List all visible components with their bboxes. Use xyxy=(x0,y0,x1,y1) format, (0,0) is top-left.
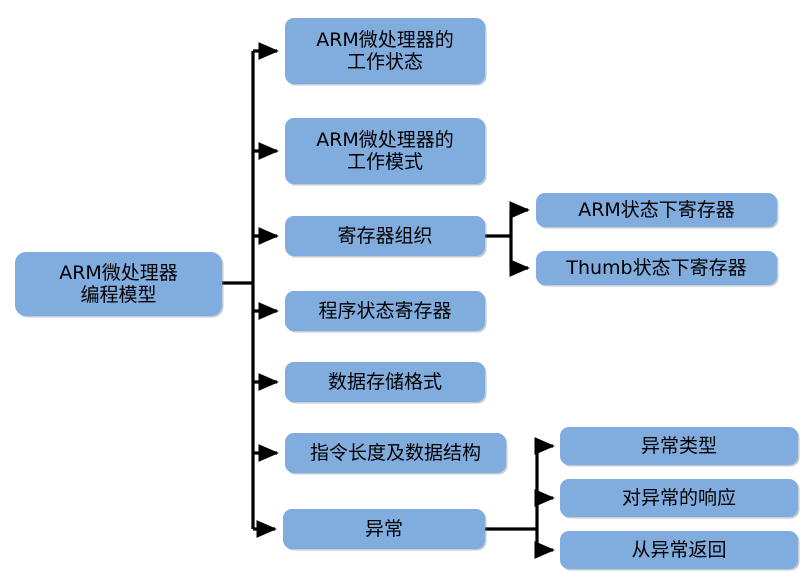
node-thumb-state-register-label: Thumb状态下寄存器 xyxy=(536,257,777,279)
node-arm-working-mode[interactable]: ARM微处理器的 工作模式 xyxy=(285,118,485,184)
node-exception[interactable]: 异常 xyxy=(283,509,485,549)
node-exception-type-label: 异常类型 xyxy=(560,435,798,457)
node-arm-state-register[interactable]: ARM状态下寄存器 xyxy=(536,193,777,227)
node-arm-state-register-label: ARM状态下寄存器 xyxy=(536,199,777,221)
node-program-status-register-label: 程序状态寄存器 xyxy=(285,300,485,322)
node-program-status-register[interactable]: 程序状态寄存器 xyxy=(285,291,485,331)
node-data-storage-format-label: 数据存储格式 xyxy=(285,371,485,393)
node-exception-label: 异常 xyxy=(283,518,485,540)
node-data-storage-format[interactable]: 数据存储格式 xyxy=(285,362,485,402)
node-exception-response[interactable]: 对异常的响应 xyxy=(560,479,798,517)
node-exception-return-label: 从异常返回 xyxy=(560,539,798,561)
node-thumb-state-register[interactable]: Thumb状态下寄存器 xyxy=(536,251,777,285)
diagram-canvas: ARM微处理器 编程模型 ARM微处理器的 工作状态 ARM微处理器的 工作模式… xyxy=(0,0,812,573)
node-exception-return[interactable]: 从异常返回 xyxy=(560,531,798,569)
node-exception-response-label: 对异常的响应 xyxy=(560,487,798,509)
node-instruction-length-and-data-structure[interactable]: 指令长度及数据结构 xyxy=(285,433,506,473)
node-arm-working-state-label: ARM微处理器的 工作状态 xyxy=(285,29,485,74)
node-register-organization-label: 寄存器组织 xyxy=(285,225,485,247)
node-instruction-length-and-data-structure-label: 指令长度及数据结构 xyxy=(285,442,506,464)
node-arm-working-mode-label: ARM微处理器的 工作模式 xyxy=(285,129,485,174)
node-root[interactable]: ARM微处理器 编程模型 xyxy=(15,252,222,316)
node-root-label: ARM微处理器 编程模型 xyxy=(15,262,222,307)
node-arm-working-state[interactable]: ARM微处理器的 工作状态 xyxy=(285,18,485,84)
node-register-organization[interactable]: 寄存器组织 xyxy=(285,216,485,256)
node-exception-type[interactable]: 异常类型 xyxy=(560,427,798,465)
